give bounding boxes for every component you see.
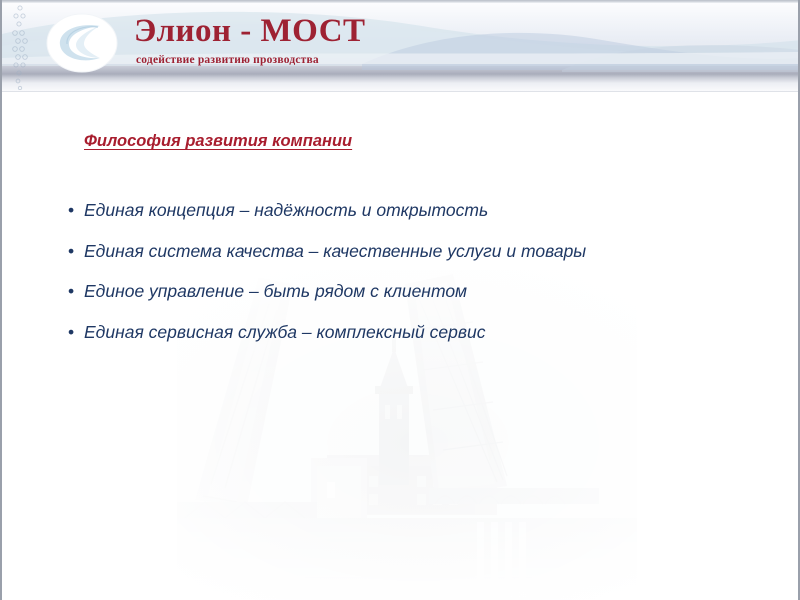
bullet-list: • Единая концепция – надёжность и открыт…: [68, 200, 768, 363]
company-logo: Элион - МОСТ содействие развитию прозвод…: [46, 10, 356, 82]
bullet-marker-icon: •: [68, 200, 74, 221]
swirl-oval-logo-icon: [46, 12, 118, 74]
list-item: • Единая концепция – надёжность и открыт…: [68, 200, 768, 221]
list-item-label: Единое управление – быть рядом с клиенто…: [84, 281, 467, 301]
header-top-rule: [2, 0, 800, 3]
list-item-label: Единая сервисная служба – комплексный се…: [84, 322, 485, 342]
page-title: Философия развития компании: [84, 132, 352, 151]
list-item: • Единая сервисная служба – комплексный …: [68, 322, 768, 343]
logo-tagline-text: содействие развитию прозводства: [136, 54, 319, 66]
bullet-marker-icon: •: [68, 322, 74, 343]
list-item-label: Единая концепция – надёжность и открытос…: [84, 200, 488, 220]
slide-content: Философия развития компании • Единая кон…: [2, 92, 800, 600]
bullet-marker-icon: •: [68, 241, 74, 262]
logo-title-text: Элион - МОСТ: [134, 14, 366, 49]
presentation-slide: Элион - МОСТ содействие развитию прозвод…: [0, 0, 800, 600]
list-item-label: Единая система качества – качественные у…: [84, 241, 586, 261]
list-item: • Единое управление – быть рядом с клиен…: [68, 281, 768, 302]
list-item: • Единая система качества – качественные…: [68, 241, 768, 262]
slide-header: Элион - МОСТ содействие развитию прозвод…: [2, 0, 800, 92]
bullet-marker-icon: •: [68, 281, 74, 302]
bead-chain-decoration-icon: [7, 2, 33, 90]
